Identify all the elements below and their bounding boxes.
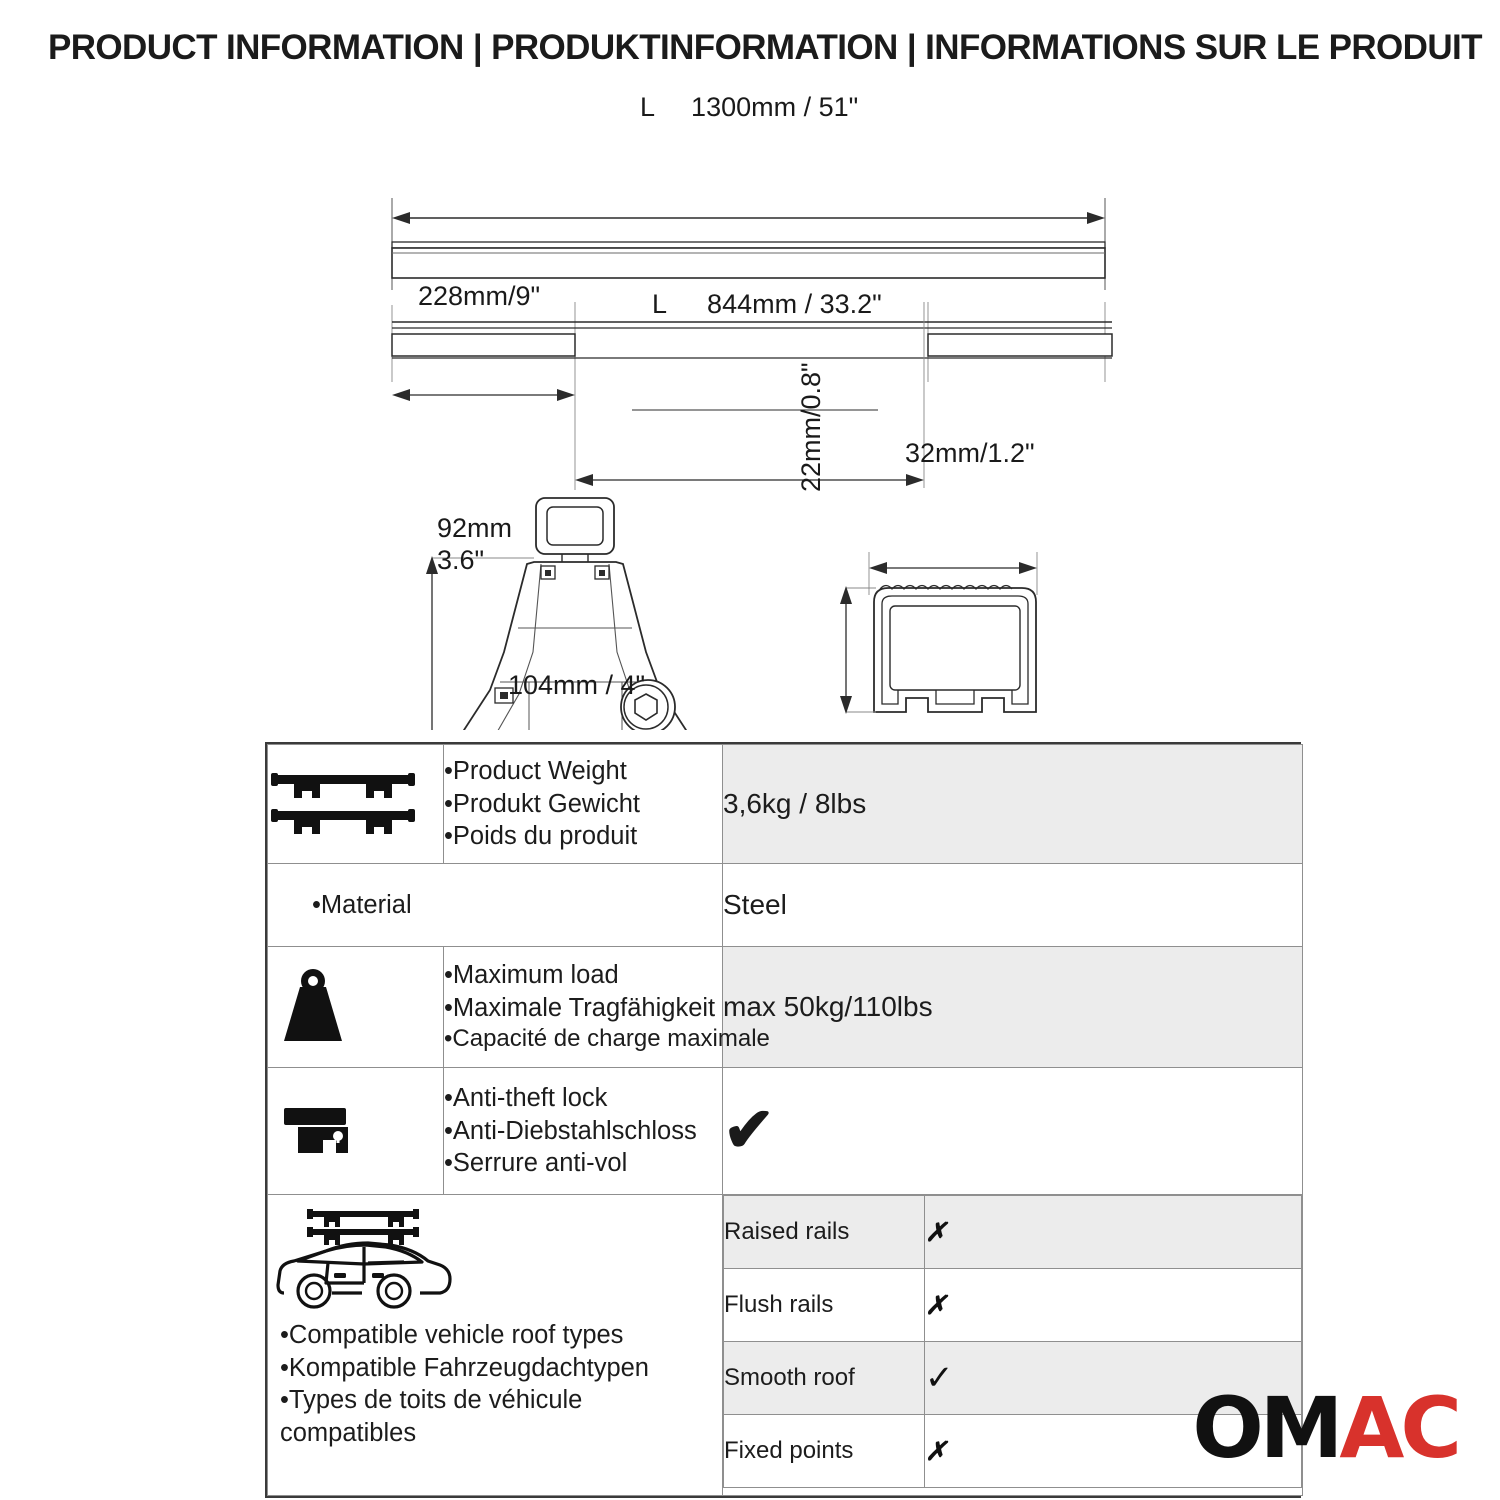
label-de: •Maximale Tragfähigkeit xyxy=(444,992,722,1025)
label-de: •Kompatible Fahrzeugdachtypen xyxy=(280,1352,718,1385)
foot-height-in: 3.6" xyxy=(437,545,512,577)
max-load-value: max 50kg/110lbs xyxy=(723,947,1303,1068)
span-prefix: L xyxy=(652,289,666,319)
label-fr: •Capacité de charge maximale xyxy=(444,1024,722,1055)
table-row: •Maximum load •Maximale Tragfähigkeit •C… xyxy=(268,947,1303,1068)
logo-text-om: OM xyxy=(1192,1379,1339,1477)
weight-icon xyxy=(268,947,444,1068)
table-row: •Material Steel xyxy=(268,864,1303,947)
profile-height-dimension: 22mm/0.8" xyxy=(796,362,827,492)
list-item: Raised rails ✗ xyxy=(724,1196,1302,1269)
technical-drawings xyxy=(0,90,1500,730)
list-item: Flush rails ✗ xyxy=(724,1269,1302,1342)
label-en: •Anti-theft lock xyxy=(444,1082,722,1115)
logo-text-ac: AC xyxy=(1339,1379,1458,1477)
roof-type-supported: ✗ xyxy=(925,1269,1302,1342)
label-en: •Maximum load xyxy=(444,959,722,992)
foot-height-mm: 92mm xyxy=(437,513,512,545)
profile-width-dimension: 32mm/1.2" xyxy=(905,438,1035,469)
roof-type-name: Raised rails xyxy=(724,1196,925,1269)
bar-length-value: 1300mm / 51" xyxy=(691,92,858,122)
label-fr: •Poids du produit xyxy=(444,820,722,853)
specifications-table: •Product Weight •Produkt Gewicht •Poids … xyxy=(265,742,1301,1498)
material-value: Steel xyxy=(723,864,1303,947)
label-de: •Produkt Gewicht xyxy=(444,788,722,821)
product-weight-labels: •Product Weight •Produkt Gewicht •Poids … xyxy=(444,745,723,864)
label-en: •Compatible vehicle roof types xyxy=(280,1319,718,1352)
label-fr-cont: compatibles xyxy=(280,1417,718,1450)
roof-type-name: Fixed points xyxy=(724,1415,925,1488)
compatibility-labels: •Compatible vehicle roof types •Kompatib… xyxy=(268,1317,722,1456)
page-title: PRODUCT INFORMATION | PRODUKTINFORMATION… xyxy=(48,28,1468,68)
table-row: •Compatible vehicle roof types •Kompatib… xyxy=(268,1195,1303,1496)
bar-length-dimension: L 1300mm / 51" xyxy=(640,92,858,123)
foot-height-dimension: 92mm 3.6" xyxy=(437,513,512,577)
foot-width-dimension: 104mm / 4" xyxy=(508,670,645,701)
compatibility-info: •Compatible vehicle roof types •Kompatib… xyxy=(268,1195,723,1496)
material-label: •Material xyxy=(268,864,723,947)
omac-logo: OMAC xyxy=(1192,1386,1458,1470)
table-row: •Anti-theft lock •Anti-Diebstahlschloss … xyxy=(268,1068,1303,1195)
roof-type-supported: ✗ xyxy=(925,1196,1302,1269)
label-de: •Anti-Diebstahlschloss xyxy=(444,1115,722,1148)
label-fr: •Serrure anti-vol xyxy=(444,1147,722,1180)
label-fr: •Types de toits de véhicule xyxy=(280,1384,718,1417)
anti-theft-value: ✔ xyxy=(723,1068,1303,1195)
roof-type-name: Smooth roof xyxy=(724,1342,925,1415)
anti-theft-labels: •Anti-theft lock •Anti-Diebstahlschloss … xyxy=(444,1068,723,1195)
span-dimension: L 844mm / 33.2" xyxy=(652,289,882,320)
lock-icon xyxy=(268,1068,444,1195)
product-information-sheet: PRODUCT INFORMATION | PRODUKTINFORMATION… xyxy=(0,0,1500,1500)
roof-bars-icon xyxy=(268,745,444,864)
foot-offset-dimension: 228mm/9" xyxy=(418,281,540,312)
product-weight-value: 3,6kg / 8lbs xyxy=(723,745,1303,864)
max-load-labels: •Maximum load •Maximale Tragfähigkeit •C… xyxy=(444,947,723,1068)
span-value: 844mm / 33.2" xyxy=(707,289,882,319)
table-row: •Product Weight •Produkt Gewicht •Poids … xyxy=(268,745,1303,864)
label-en: •Product Weight xyxy=(444,755,722,788)
bar-length-prefix: L xyxy=(640,92,654,122)
roof-type-name: Flush rails xyxy=(724,1269,925,1342)
car-with-rack-icon xyxy=(268,1205,722,1317)
